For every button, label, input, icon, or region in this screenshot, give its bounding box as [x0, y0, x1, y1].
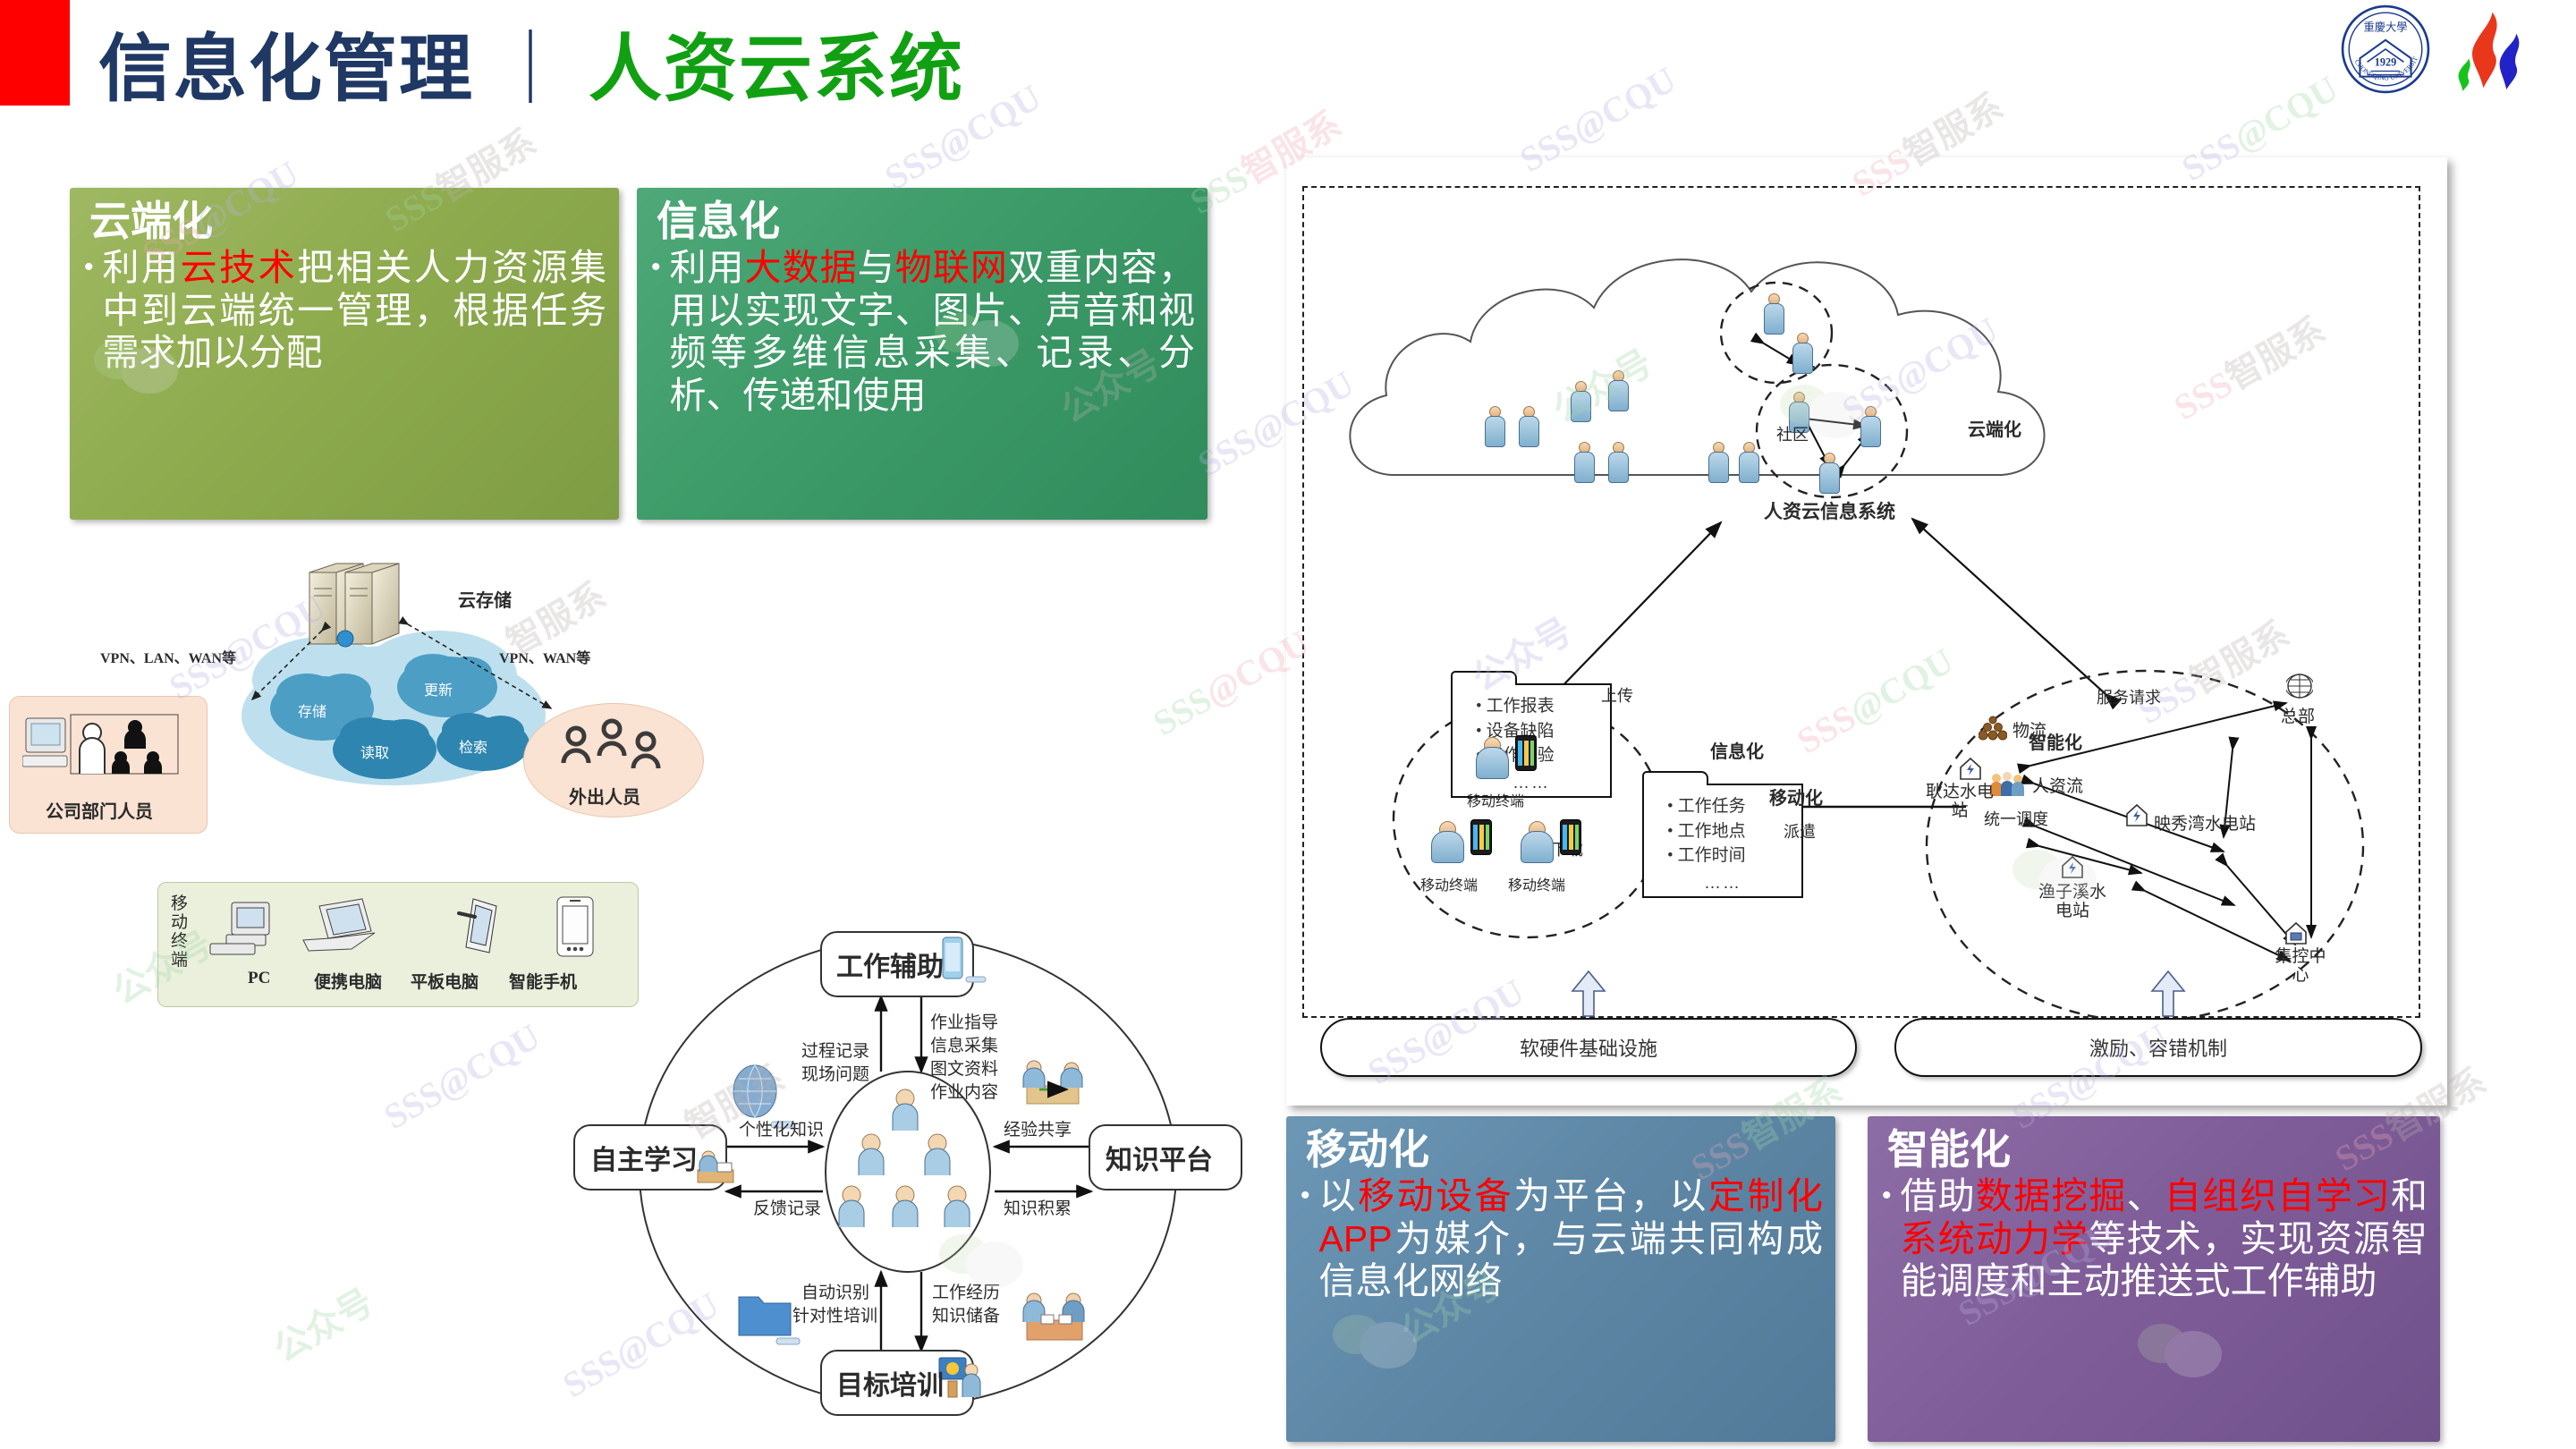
card-bullet: •: [84, 247, 94, 375]
network-link-right-label: VPN、WAN等: [499, 646, 590, 667]
cycle-node-self-learning[interactable]: 自主学习: [590, 1138, 698, 1177]
body-text-run: 利用: [670, 247, 745, 288]
mobilization-label: 移动化: [1769, 784, 1823, 809]
cloud-op-update-label: 更新: [424, 678, 453, 699]
headquarters-label: 总部: [2281, 703, 2315, 727]
power-station-icon: [1959, 757, 1982, 780]
highlighted-term: 云技术: [181, 247, 298, 288]
upload-arrow-label: 上传: [1601, 683, 1633, 707]
card-text: 借助数据挖掘、自组织自学习和系统动力学等技术，实现资源智能调度和主动推送式工作辅…: [1901, 1175, 2428, 1303]
body-text-run: 、: [2127, 1175, 2165, 1216]
card-body: • 以移动设备为平台，以定制化APP为媒介，与云端共同构成信息化网络: [1301, 1175, 1823, 1303]
community-label: 社区: [1776, 422, 1809, 445]
card-title: 智能化: [1887, 1129, 2440, 1170]
learning-cycle-diagram: 工作辅助 自主学习 知识平台 目标培训 过程记录 现场问题 作业指导 信息采集 …: [563, 903, 1252, 1440]
cqu-university-logo-icon: 1929 重慶大學 CHONGQING UNIVERSITY: [2340, 4, 2431, 95]
cloud-op-store-label: 存储: [298, 699, 326, 721]
terminal-device-icons: [205, 894, 625, 965]
title-primary: 信息化管理: [98, 9, 474, 115]
power-station-icon: [2125, 803, 2148, 826]
logo-group: 1929 重慶大學 CHONGQING UNIVERSITY: [2340, 4, 2563, 97]
yingxiuwan-station-label: 映秀湾水电站: [2154, 810, 2256, 835]
highlighted-term: 自组织自学习: [2165, 1175, 2391, 1216]
cloud-system-label: 人资云信息系统: [1764, 497, 1895, 524]
cycle-edge-experience-sharing: 经验共享: [1004, 1116, 1072, 1140]
folder-tab: [1451, 671, 1517, 685]
foundation-box-incentive[interactable]: 激励、容错机制: [1894, 1018, 2422, 1077]
card-title: 信息化: [657, 200, 1207, 241]
control-center-label: 集控中心: [2274, 948, 2327, 986]
highlighted-term: 物联网: [895, 247, 1008, 288]
highlighted-term: 移动设备: [1358, 1175, 1513, 1216]
folder-more: ……: [1644, 874, 1801, 899]
hr-cloud-system-diagram: 人资云信息系统 社区 云端化 工作报表 设备缺陷 工作经验 …… 工作任务 工作…: [1286, 157, 2447, 1106]
smartphone-icon: [1515, 735, 1537, 771]
terminal-tablet-label: 平板电脑: [411, 969, 479, 993]
body-text-run: 借助: [1901, 1175, 1976, 1216]
cycle-node-goal-training[interactable]: 目标培训: [836, 1363, 944, 1402]
body-text-run: 以: [1319, 1175, 1359, 1216]
cycle-edge-work-content: 作业内容: [930, 1079, 998, 1103]
desktop-and-people-icon: [22, 706, 201, 795]
folder-item: 工作报表: [1476, 694, 1610, 719]
folder-item: 工作时间: [1667, 843, 1801, 869]
headquarters-globe-icon: [2286, 673, 2313, 699]
card-bullet: •: [1882, 1175, 1892, 1303]
power-station-icon: [2061, 855, 2084, 878]
logistics-flow-label: 物流: [2012, 717, 2046, 741]
cycle-edge-process-record: 过程记录: [801, 1038, 869, 1062]
cycle-edge-knowledge-reserve: 知识储备: [932, 1302, 1000, 1326]
concept-card-mobilization[interactable]: 移动化 • 以移动设备为平台，以定制化APP为媒介，与云端共同构成信息化网络: [1286, 1116, 1835, 1442]
dispatch-label: 派遣: [1784, 819, 1816, 843]
field-staff-group: 外出人员: [523, 703, 704, 818]
concept-card-informatization[interactable]: 信息化 • 利用大数据与物联网双重内容，用以实现文字、图片、声音和视频等多维信息…: [637, 188, 1207, 520]
page-title: 信息化管理 ｜ 人资云系统: [98, 13, 964, 111]
cycle-edge-work-experience: 工作经历: [932, 1279, 1000, 1303]
highlighted-term: 系统动力学: [1901, 1218, 2089, 1259]
body-text-run: 利用: [103, 247, 181, 288]
cycle-edge-graphic-material: 图文资料: [930, 1055, 998, 1080]
card-bullet: •: [1301, 1175, 1310, 1303]
cloud-storage-label: 云存储: [458, 586, 512, 612]
smartphone-icon: [1560, 819, 1581, 855]
body-text-run: 与: [858, 247, 895, 288]
folder-tab: [1642, 771, 1708, 785]
card-title: 移动化: [1306, 1129, 1835, 1170]
hr-flow-label: 人资流: [2032, 773, 2083, 797]
service-request-label: 服务请求: [2097, 685, 2161, 708]
yuzixi-station-label: 渔子溪水电站: [2034, 884, 2111, 921]
gengda-station-label: 耿达水电站: [1919, 784, 2000, 821]
highlighted-term: 数据挖掘: [1976, 1175, 2127, 1216]
slide-root: 信息化管理 ｜ 人资云系统 1929 重慶大學 CHONGQING UNIVER…: [0, 0, 2576, 1449]
people-group-icon: [551, 716, 676, 779]
field-staff-label: 外出人员: [569, 783, 640, 809]
informatization-label: 信息化: [1710, 737, 1764, 763]
cycle-edge-work-instruction: 作业指导: [930, 1009, 998, 1033]
body-text-run: 和: [2391, 1175, 2428, 1216]
cycle-edge-personalized-knowledge: 个性化知识: [739, 1116, 824, 1140]
company-staff-group: 公司部门人员: [9, 696, 208, 834]
header-red-accent-bar: [0, 0, 70, 106]
network-link-left-label: VPN、LAN、WAN等: [100, 646, 236, 667]
mobile-terminal-label: 移动终端: [1420, 873, 1478, 894]
card-text: 利用云技术把相关人力资源集中到云端统一管理，根据任务需求加以分配: [103, 247, 606, 375]
card-title: 云端化: [89, 200, 619, 241]
card-text: 利用大数据与物联网双重内容，用以实现文字、图片、声音和视频等多维信息采集、记录、…: [670, 247, 1195, 417]
cloud-storage-illustration: 云存储 VPN、LAN、WAN等 VPN、WAN等 存储 更新 读取 检索 公司…: [54, 546, 716, 841]
body-text-run: 为平台，以: [1513, 1175, 1708, 1216]
concept-card-cloud[interactable]: 云端化 • 利用云技术把相关人力资源集中到云端统一管理，根据任务需求加以分配: [70, 188, 619, 520]
cycle-edge-info-collection: 信息采集: [930, 1032, 998, 1056]
terminal-laptop-label: 便携电脑: [314, 969, 382, 993]
control-center-icon: [2284, 921, 2308, 945]
mobile-terminal-label: 移动终端: [1467, 789, 1524, 810]
folder-item: 工作地点: [1667, 819, 1801, 844]
cloud-op-read-label: 读取: [360, 741, 389, 762]
mobile-terminal-label: 移动终端: [1508, 873, 1565, 894]
cloud-op-retrieve-label: 检索: [459, 735, 487, 757]
flame-logo-icon: [2447, 9, 2529, 91]
logistics-icon: [1979, 716, 2007, 742]
card-body: • 利用云技术把相关人力资源集中到云端统一管理，根据任务需求加以分配: [84, 247, 606, 375]
title-secondary: 人资云系统: [589, 9, 964, 115]
foundation-label: 软硬件基础设施: [1520, 1033, 1657, 1062]
svg-text:1929: 1929: [2375, 55, 2396, 68]
cycle-node-knowledge-platform[interactable]: 知识平台: [1106, 1138, 1213, 1177]
cloudification-label: 云端化: [1968, 415, 2021, 441]
svg-text:重慶大學: 重慶大學: [2364, 21, 2408, 34]
foundation-box-infrastructure[interactable]: 软硬件基础设施: [1320, 1018, 1857, 1077]
card-bullet: •: [651, 247, 661, 417]
mobile-terminal-panel-label: 移动终端: [171, 895, 191, 970]
foundation-label: 激励、容错机制: [2089, 1033, 2227, 1062]
cycle-edge-site-issue: 现场问题: [801, 1061, 869, 1085]
title-separator: ｜: [494, 9, 569, 115]
cycle-edge-targeted-training: 针对性培训: [792, 1302, 877, 1326]
body-text-run: 为媒介，与云端共同构成信息化网络: [1319, 1218, 1823, 1302]
card-text: 以移动设备为平台，以定制化APP为媒介，与云端共同构成信息化网络: [1319, 1175, 1823, 1303]
cycle-edge-feedback-record: 反馈记录: [753, 1195, 821, 1219]
concept-card-intelligentization[interactable]: 智能化 • 借助数据挖掘、自组织自学习和系统动力学等技术，实现资源智能调度和主动…: [1868, 1116, 2440, 1442]
cycle-node-work-assist[interactable]: 工作辅助: [836, 945, 944, 984]
card-body: • 利用大数据与物联网双重内容，用以实现文字、图片、声音和视频等多维信息采集、记…: [651, 247, 1195, 417]
smartphone-icon: [1470, 819, 1492, 855]
cycle-edge-auto-identify: 自动识别: [801, 1279, 869, 1303]
company-staff-label: 公司部门人员: [46, 797, 153, 823]
highlighted-term: 大数据: [745, 247, 858, 288]
card-body: • 借助数据挖掘、自组织自学习和系统动力学等技术，实现资源智能调度和主动推送式工…: [1882, 1175, 2428, 1303]
cycle-edge-knowledge-accumulation: 知识积累: [1004, 1195, 1072, 1219]
terminal-pc-label: PC: [248, 969, 270, 988]
